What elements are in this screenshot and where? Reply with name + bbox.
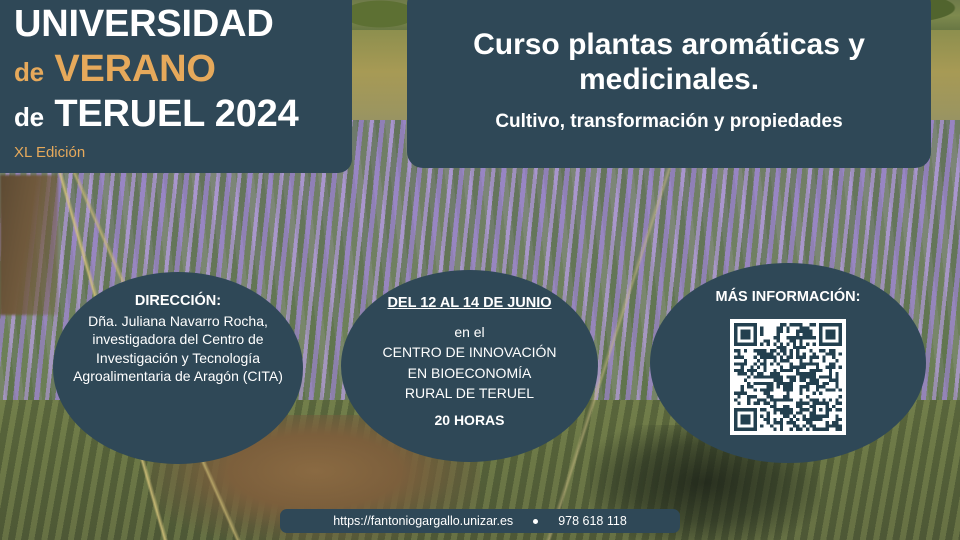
- course-title: Curso plantas aromáticas y medicinales.: [433, 27, 905, 98]
- university-line-1: UNIVERSIDAD: [14, 4, 322, 45]
- oval-direccion-heading: DIRECCIÓN:: [135, 292, 221, 310]
- oval-venue-line-1: CENTRO DE INNOVACIÓN: [383, 343, 557, 361]
- university-line-2-prefix: de: [14, 57, 44, 87]
- university-line-3-main: TERUEL 2024: [54, 93, 298, 135]
- footer-contact-bar: https://fantoniogargallo.unizar.es 978 6…: [280, 509, 680, 533]
- edition-label: XL Edición: [14, 144, 322, 161]
- oval-fechas-lugar: DEL 12 AL 14 DE JUNIO en el CENTRO DE IN…: [341, 270, 598, 462]
- university-line-3: de TERUEL 2024: [14, 94, 322, 135]
- oval-info-heading: MÁS INFORMACIÓN:: [716, 288, 861, 306]
- oval-hours: 20 HORAS: [434, 412, 504, 428]
- poster-canvas: UNIVERSIDAD de VERANO de TERUEL 2024 XL …: [0, 0, 960, 540]
- oval-venue-line-2: EN BIOECONOMÍA: [408, 364, 532, 382]
- course-subtitle: Cultivo, transformación y propiedades: [495, 111, 842, 133]
- oval-venue-line-3: RURAL DE TERUEL: [405, 384, 534, 402]
- oval-direccion: DIRECCIÓN: Dña. Juliana Navarro Rocha, i…: [53, 272, 303, 464]
- university-line-2: de VERANO: [14, 49, 322, 90]
- footer-separator-dot: [533, 519, 538, 524]
- course-title-banner: Curso plantas aromáticas y medicinales. …: [407, 0, 931, 168]
- university-line-3-prefix: de: [14, 102, 44, 132]
- oval-venue-prefix: en el: [454, 323, 484, 341]
- oval-direccion-body: Dña. Juliana Navarro Rocha, investigador…: [69, 312, 287, 385]
- university-banner: UNIVERSIDAD de VERANO de TERUEL 2024 XL …: [0, 0, 352, 173]
- footer-url[interactable]: https://fantoniogargallo.unizar.es: [333, 514, 513, 528]
- footer-phone: 978 618 118: [558, 514, 627, 528]
- oval-dates-heading: DEL 12 AL 14 DE JUNIO: [387, 294, 551, 312]
- qr-code[interactable]: [730, 319, 846, 435]
- oval-mas-informacion: MÁS INFORMACIÓN:: [650, 263, 926, 463]
- qr-code-icon: [734, 323, 842, 431]
- university-line-2-accent: VERANO: [54, 48, 215, 90]
